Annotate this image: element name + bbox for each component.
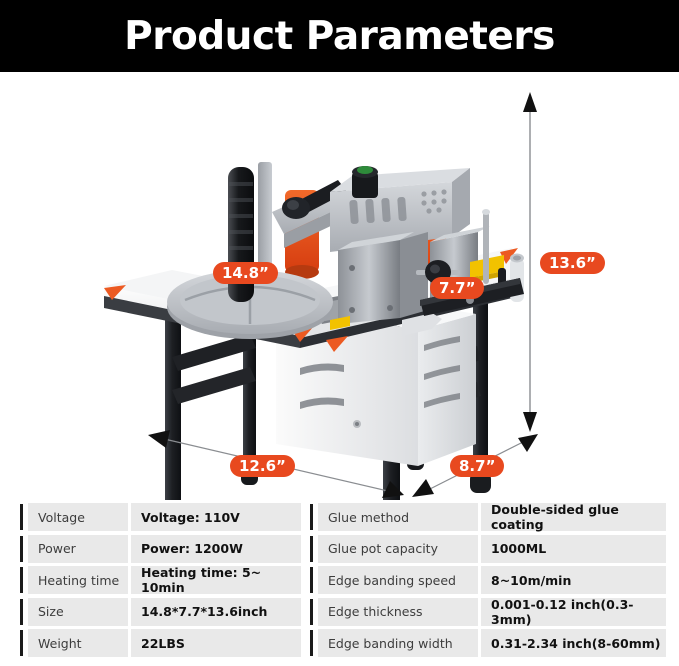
product-photo xyxy=(0,72,679,500)
row-tick-icon xyxy=(310,536,313,562)
spec-label: Glue method xyxy=(318,503,478,531)
spec-value: 0.001-0.12 inch(0.3-3mm) xyxy=(481,598,666,626)
spec-label: Size xyxy=(28,598,128,626)
badge-base-length-126: 12.6” xyxy=(230,455,295,477)
spec-value: 0.31-2.34 inch(8-60mm) xyxy=(481,629,666,657)
table-row: Power Power: 1200W xyxy=(20,535,301,563)
spec-value: Heating time: 5~ 10min xyxy=(131,566,301,594)
spec-label: Edge banding speed xyxy=(318,566,478,594)
table-row: Heating time Heating time: 5~ 10min xyxy=(20,566,301,594)
spec-value: 22LBS xyxy=(131,629,301,657)
row-tick-icon xyxy=(20,599,23,625)
spec-value: 1000ML xyxy=(481,535,666,563)
row-tick-icon xyxy=(310,599,313,625)
spec-label: Edge thickness xyxy=(318,598,478,626)
row-tick-icon xyxy=(20,504,23,530)
title-banner: Product Parameters xyxy=(0,0,679,72)
row-tick-icon xyxy=(20,536,23,562)
table-row: Edge banding speed 8~10m/min xyxy=(310,566,666,594)
product-parameters-page: Product Parameters xyxy=(0,0,679,666)
guide-rod xyxy=(483,212,489,284)
table-row: Glue method Double-sided glue coating xyxy=(310,503,666,531)
spec-value: 14.8*7.7*13.6inch xyxy=(131,598,301,626)
page-title: Product Parameters xyxy=(0,0,679,72)
spec-table-left: Voltage Voltage: 110V Power Power: 1200W… xyxy=(20,503,301,666)
spec-label: Heating time xyxy=(28,566,128,594)
badge-depth-77: 7.7” xyxy=(430,277,484,299)
spec-label: Power xyxy=(28,535,128,563)
table-row: Voltage Voltage: 110V xyxy=(20,503,301,531)
row-tick-icon xyxy=(310,630,313,656)
row-tick-icon xyxy=(20,567,23,593)
table-row: Edge banding width 0.31-2.34 inch(8-60mm… xyxy=(310,629,666,657)
table-row: Glue pot capacity 1000ML xyxy=(310,535,666,563)
spec-label: Weight xyxy=(28,629,128,657)
spec-label: Edge banding width xyxy=(318,629,478,657)
spec-label: Glue pot capacity xyxy=(318,535,478,563)
row-tick-icon xyxy=(310,567,313,593)
badge-base-width-87: 8.7” xyxy=(450,455,504,477)
spec-value: Double-sided glue coating xyxy=(481,503,666,531)
spec-tables: Voltage Voltage: 110V Power Power: 1200W… xyxy=(0,503,679,666)
green-button-icon xyxy=(357,166,373,174)
table-row: Edge thickness 0.001-0.12 inch(0.3-3mm) xyxy=(310,598,666,626)
edge-banding-machine-illustration xyxy=(0,72,679,500)
machine-head xyxy=(167,162,524,339)
row-tick-icon xyxy=(20,630,23,656)
badge-height-136: 13.6” xyxy=(540,252,605,274)
badge-width-148: 14.8” xyxy=(213,262,278,284)
row-tick-icon xyxy=(310,504,313,530)
spec-value: Power: 1200W xyxy=(131,535,301,563)
spec-label: Voltage xyxy=(28,503,128,531)
spec-table-right: Glue method Double-sided glue coating Gl… xyxy=(310,503,666,666)
spec-value: 8~10m/min xyxy=(481,566,666,594)
spec-value: Voltage: 110V xyxy=(131,503,301,531)
table-row: Size 14.8*7.7*13.6inch xyxy=(20,598,301,626)
table-row: Weight 22LBS xyxy=(20,629,301,657)
